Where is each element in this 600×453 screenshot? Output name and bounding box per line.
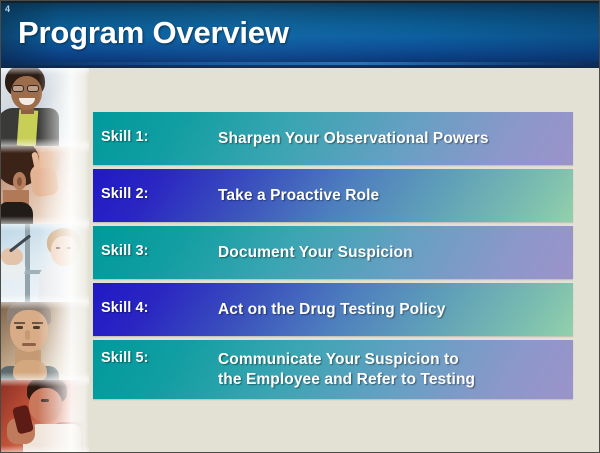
skill-5-label: Skill 5: — [93, 350, 218, 366]
skills-list: Skill 1: Sharpen Your Observational Powe… — [93, 112, 573, 403]
skill-bar-3[interactable]: Skill 3: Document Your Suspicion — [93, 226, 573, 279]
photo-person-writing-on-glass-board — [1, 224, 89, 302]
skill-1-text: Sharpen Your Observational Powers — [218, 129, 573, 149]
skill-4-line-1: Act on the Drug Testing Policy — [218, 301, 445, 318]
photo-5-vertical-fade — [1, 380, 89, 453]
skill-5-line-2: the Employee and Refer to Testing — [218, 370, 573, 390]
skill-5-text: Communicate Your Suspicion to the Employ… — [218, 350, 573, 390]
slide-number: 4 — [5, 4, 10, 14]
skill-2-text: Take a Proactive Role — [218, 186, 573, 206]
skill-2-label: Skill 2: — [93, 186, 218, 202]
skill-4-label: Skill 4: — [93, 300, 218, 316]
photo-2-vertical-fade — [1, 146, 89, 224]
skill-bar-2[interactable]: Skill 2: Take a Proactive Role — [93, 169, 573, 222]
header-bottom-rule — [0, 62, 600, 65]
skill-bar-1[interactable]: Skill 1: Sharpen Your Observational Powe… — [93, 112, 573, 165]
skill-3-text: Document Your Suspicion — [218, 243, 573, 263]
page-title: Program Overview — [18, 15, 289, 51]
skill-1-line-1: Sharpen Your Observational Powers — [218, 130, 489, 147]
photo-4-vertical-fade — [1, 302, 89, 380]
skill-1-label: Skill 1: — [93, 129, 218, 145]
photo-older-man-with-hand-to-chin — [1, 302, 89, 380]
skill-2-line-1: Take a Proactive Role — [218, 187, 379, 204]
header-top-rule — [0, 0, 600, 3]
skill-3-label: Skill 3: — [93, 243, 218, 259]
slide-canvas: 4 Program Overview — [0, 0, 600, 453]
photo-person-with-hand-raised-near-head — [1, 146, 89, 224]
skill-bar-4[interactable]: Skill 4: Act on the Drug Testing Policy — [93, 283, 573, 336]
photo-3-vertical-fade — [1, 224, 89, 302]
photo-person-talking-on-mobile-phone — [1, 380, 89, 453]
skill-4-text: Act on the Drug Testing Policy — [218, 300, 573, 320]
skill-5-line-1: Communicate Your Suspicion to — [218, 351, 459, 368]
photo-smiling-professional-woman-with-glasses — [1, 68, 89, 146]
photo-strip — [1, 68, 89, 453]
skill-bar-5[interactable]: Skill 5: Communicate Your Suspicion to t… — [93, 340, 573, 399]
photo-1-vertical-fade — [1, 68, 89, 146]
skill-3-line-1: Document Your Suspicion — [218, 244, 413, 261]
